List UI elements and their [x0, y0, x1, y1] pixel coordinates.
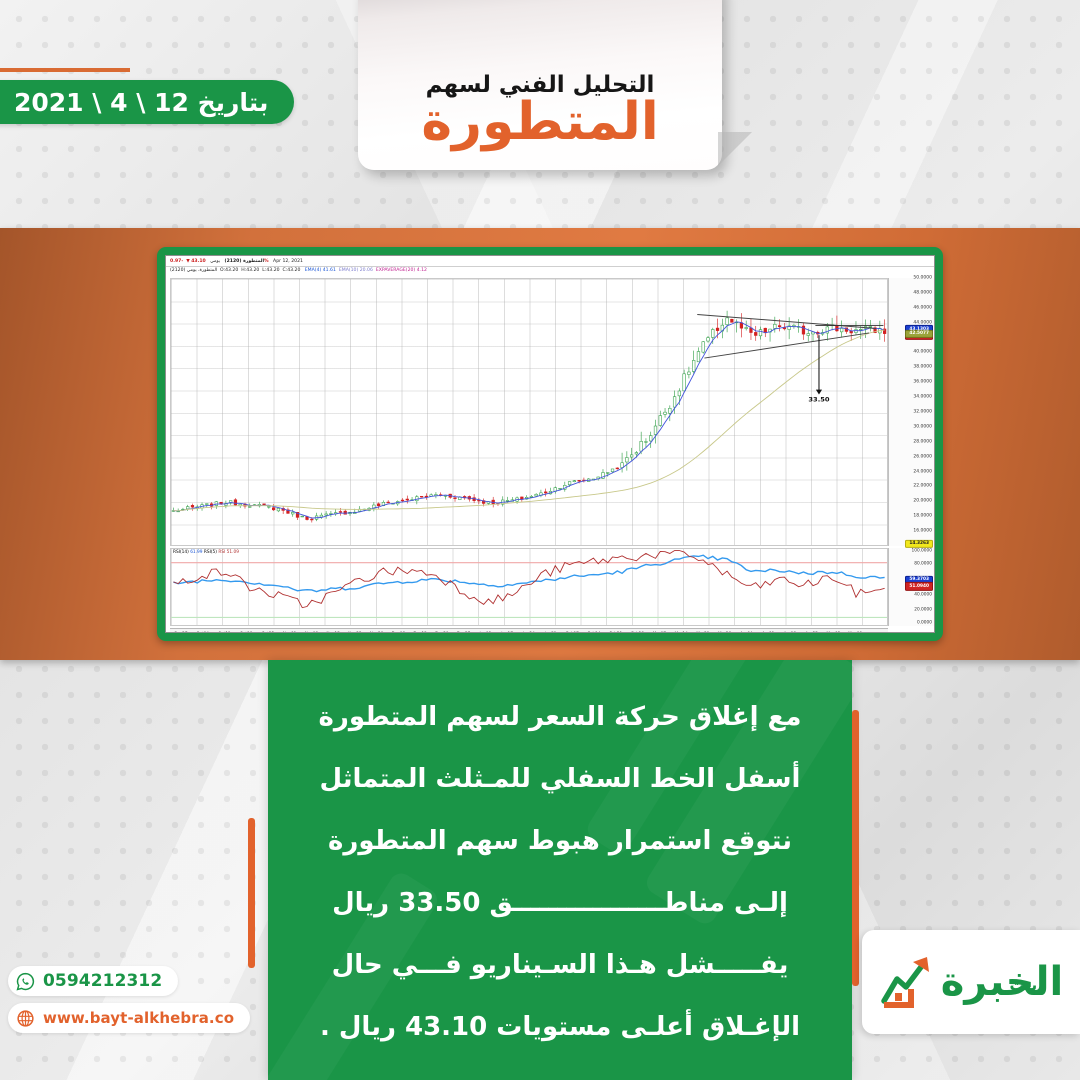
date-axis-tick: Sep27: [174, 631, 187, 633]
date-axis-tick: May09: [848, 631, 862, 633]
date-axis: Sep27Oct04Oct11Oct18Oct25Nov01Nov08Nov15…: [170, 628, 888, 633]
logo-subtext: بيت: [1010, 976, 1038, 994]
chart-open: O:43.20: [220, 268, 238, 273]
date-axis-tick: Nov29: [370, 631, 384, 633]
indicator-axis-tick: 40.0000: [914, 592, 932, 597]
analysis-line: إلـى مناطـــــــــــــــــق 33.50 ريال: [310, 890, 810, 916]
logo-maintext: الخبرة: [941, 962, 1063, 1002]
chart-ohlc-symbol: المتطورة، يومي (2120): [170, 268, 217, 273]
price-axis-tick: 48.0000: [913, 290, 932, 295]
expavg-label: EXPAVERAGE(20): [376, 268, 415, 273]
analysis-panel: مع إغلاق حركة السعر لسهم المتطورةأسفل ال…: [268, 660, 852, 1080]
analysis-line: أسفل الخط السفلي للمـثلث المتماثل: [310, 766, 810, 792]
date-axis-tick: Mar21: [696, 631, 709, 633]
analysis-line: نتوقع استمرار هبوط سهم المتطورة: [310, 828, 810, 854]
price-axis-tick: 50.0000: [913, 276, 932, 281]
ema4-label: EMA(4): [305, 268, 322, 273]
date-axis-tick: Feb14: [588, 631, 601, 633]
analysis-line: الإغـلاق أعلـى مستويات 43.10 ريال .: [310, 1014, 810, 1040]
analysis-line: يفـــــشل هـذا السـيناريو فـــي حال: [310, 952, 810, 978]
price-axis-tick: 18.0000: [913, 514, 932, 519]
price-axis: 50.000048.000046.000044.000042.000040.00…: [888, 278, 934, 546]
chart-canvas[interactable]: المتطورة (2120) يومي 43.10 ▼ -0.97% Apr …: [165, 255, 935, 633]
chart-low: L:43.20: [262, 268, 279, 273]
price-plot-svg: 43.1033.50: [171, 279, 887, 545]
date-axis-tick: Apr18: [784, 631, 797, 633]
price-marker-pill: 14.3263: [905, 539, 933, 547]
price-axis-tick: 38.0000: [913, 365, 932, 370]
website-url: www.bayt-alkhebra.co: [43, 1009, 234, 1027]
growth-arrow-icon: [879, 953, 935, 1011]
date-axis-tick: Oct18: [240, 631, 253, 633]
globe-icon: [16, 1009, 35, 1028]
whatsapp-number: 0594212312: [43, 971, 162, 991]
price-axis-tick: 46.0000: [913, 305, 932, 310]
brand-logo[interactable]: بيت الخبرة: [862, 930, 1080, 1034]
right-accent-bar: [852, 710, 859, 986]
chart-high: H:43.20: [241, 268, 259, 273]
header: بتاريخ 12 \ 4 \ 2021 التحليل الفني لسهم …: [0, 0, 1080, 228]
price-axis-tick: 34.0000: [913, 395, 932, 400]
price-axis-tick: 40.0000: [913, 350, 932, 355]
ema10-label: EMA(10): [339, 268, 358, 273]
price-axis-tick: 20.0000: [913, 499, 932, 504]
price-axis-tick: 24.0000: [913, 469, 932, 474]
date-axis-tick: Dec06: [392, 631, 405, 633]
date-axis-tick: Jan31: [545, 631, 557, 633]
ema10-value: 20.06: [360, 268, 373, 273]
page-title: المتطورة: [421, 96, 658, 148]
date-axis-tick: Nov15: [326, 631, 340, 633]
analysis-line: مع إغلاق حركة السعر لسهم المتطورة: [310, 704, 810, 730]
target-annotation: 33.50: [808, 396, 830, 404]
contact-block: 0594212312 www.bayt-alkhebra.co: [8, 966, 238, 1040]
date-axis-tick: Oct04: [196, 631, 209, 633]
indicator-marker-pill: 51.0940: [905, 582, 933, 590]
rsi14-label: RSI(14): [173, 550, 189, 555]
date-axis-tick: Mar07: [653, 631, 666, 633]
date-axis-tick: May02: [826, 631, 840, 633]
date-badge: بتاريخ 12 \ 4 \ 2021: [0, 80, 294, 124]
title-card: التحليل الفني لسهم المتطورة: [358, 0, 722, 170]
indicator-pane[interactable]: RSI(14) 61.99 RSI(5) RSI 51.09: [170, 548, 888, 626]
date-axis-tick: Mar14: [675, 631, 688, 633]
indicator-axis-tick: 20.0000: [914, 608, 932, 613]
date-axis-tick: Dec13: [413, 631, 426, 633]
date-axis-tick: Feb28: [631, 631, 644, 633]
chart-frame: المتطورة (2120) يومي 43.10 ▼ -0.97% Apr …: [157, 247, 943, 641]
date-axis-tick: Jan03: [479, 631, 491, 633]
title-card-fold: [718, 132, 752, 166]
date-axis-tick: Apr25: [805, 631, 818, 633]
date-axis-tick: Dec27: [457, 631, 470, 633]
date-axis-tick: Dec20: [435, 631, 448, 633]
website-row[interactable]: www.bayt-alkhebra.co: [8, 1003, 250, 1033]
analysis-text: مع إغلاق حركة السعر لسهم المتطورةأسفل ال…: [268, 660, 852, 1040]
chart-date: Apr 12, 2021: [273, 259, 303, 264]
date-axis-tick: Jan24: [523, 631, 535, 633]
rsi14-value: 61.99: [190, 550, 202, 555]
price-axis-tick: 32.0000: [913, 410, 932, 415]
whatsapp-row[interactable]: 0594212312: [8, 966, 178, 996]
indicator-axis: 100.000080.000060.000040.000020.00000.00…: [888, 548, 934, 626]
date-axis-tick: Oct25: [262, 631, 275, 633]
price-axis-tick: 16.0000: [913, 529, 932, 534]
expavg-value: 4.12: [417, 268, 427, 273]
rsi5-value: RSI 51.09: [218, 550, 239, 555]
chart-symbol: المتطورة (2120): [224, 259, 264, 264]
date-axis-tick: Feb21: [610, 631, 623, 633]
date-axis-tick: Jan17: [501, 631, 513, 633]
down-triangle-icon: ▼: [186, 259, 190, 264]
chart-last-price: 43.10: [191, 259, 206, 264]
indicator-axis-tick: 80.0000: [914, 561, 932, 566]
chart-timeframe: يومي: [210, 259, 220, 264]
price-axis-tick: 26.0000: [913, 454, 932, 459]
price-pane[interactable]: 43.1033.50: [170, 278, 888, 546]
rsi5-label: RSI(5): [204, 550, 217, 555]
date-axis-tick: Nov01: [283, 631, 297, 633]
price-axis-tick: 22.0000: [913, 484, 932, 489]
price-axis-tick: 30.0000: [913, 424, 932, 429]
price-axis-tick: 36.0000: [913, 380, 932, 385]
date-axis-tick: Oct11: [218, 631, 231, 633]
price-marker-pill: 42.5077: [905, 330, 933, 338]
ema4-value: 41.61: [323, 268, 336, 273]
chart-header-row-1: المتطورة (2120) يومي 43.10 ▼ -0.97% Apr …: [166, 259, 934, 267]
left-accent-bar: [248, 818, 255, 968]
price-axis-tick: 28.0000: [913, 439, 932, 444]
chart-header-row-2: المتطورة، يومي (2120) O:43.20 H:43.20 L:…: [166, 268, 934, 273]
date-axis-tick: Nov22: [348, 631, 362, 633]
indicator-axis-tick: 0.0000: [917, 621, 932, 626]
indicator-legend: RSI(14) 61.99 RSI(5) RSI 51.09: [173, 550, 239, 555]
date-badge-label: بتاريخ 12 \ 4 \ 2021: [14, 88, 268, 117]
date-axis-tick: Mar28: [718, 631, 731, 633]
date-axis-tick: Feb07: [566, 631, 579, 633]
indicator-axis-tick: 100.0000: [911, 549, 932, 554]
date-axis-tick: Apr11: [762, 631, 775, 633]
date-axis-tick: Nov08: [305, 631, 319, 633]
date-rule-divider: [0, 68, 130, 72]
whatsapp-icon: [16, 972, 35, 991]
indicator-plot-svg: [171, 549, 887, 625]
chart-close: C:43.20: [282, 268, 300, 273]
date-axis-tick: Apr04: [740, 631, 753, 633]
